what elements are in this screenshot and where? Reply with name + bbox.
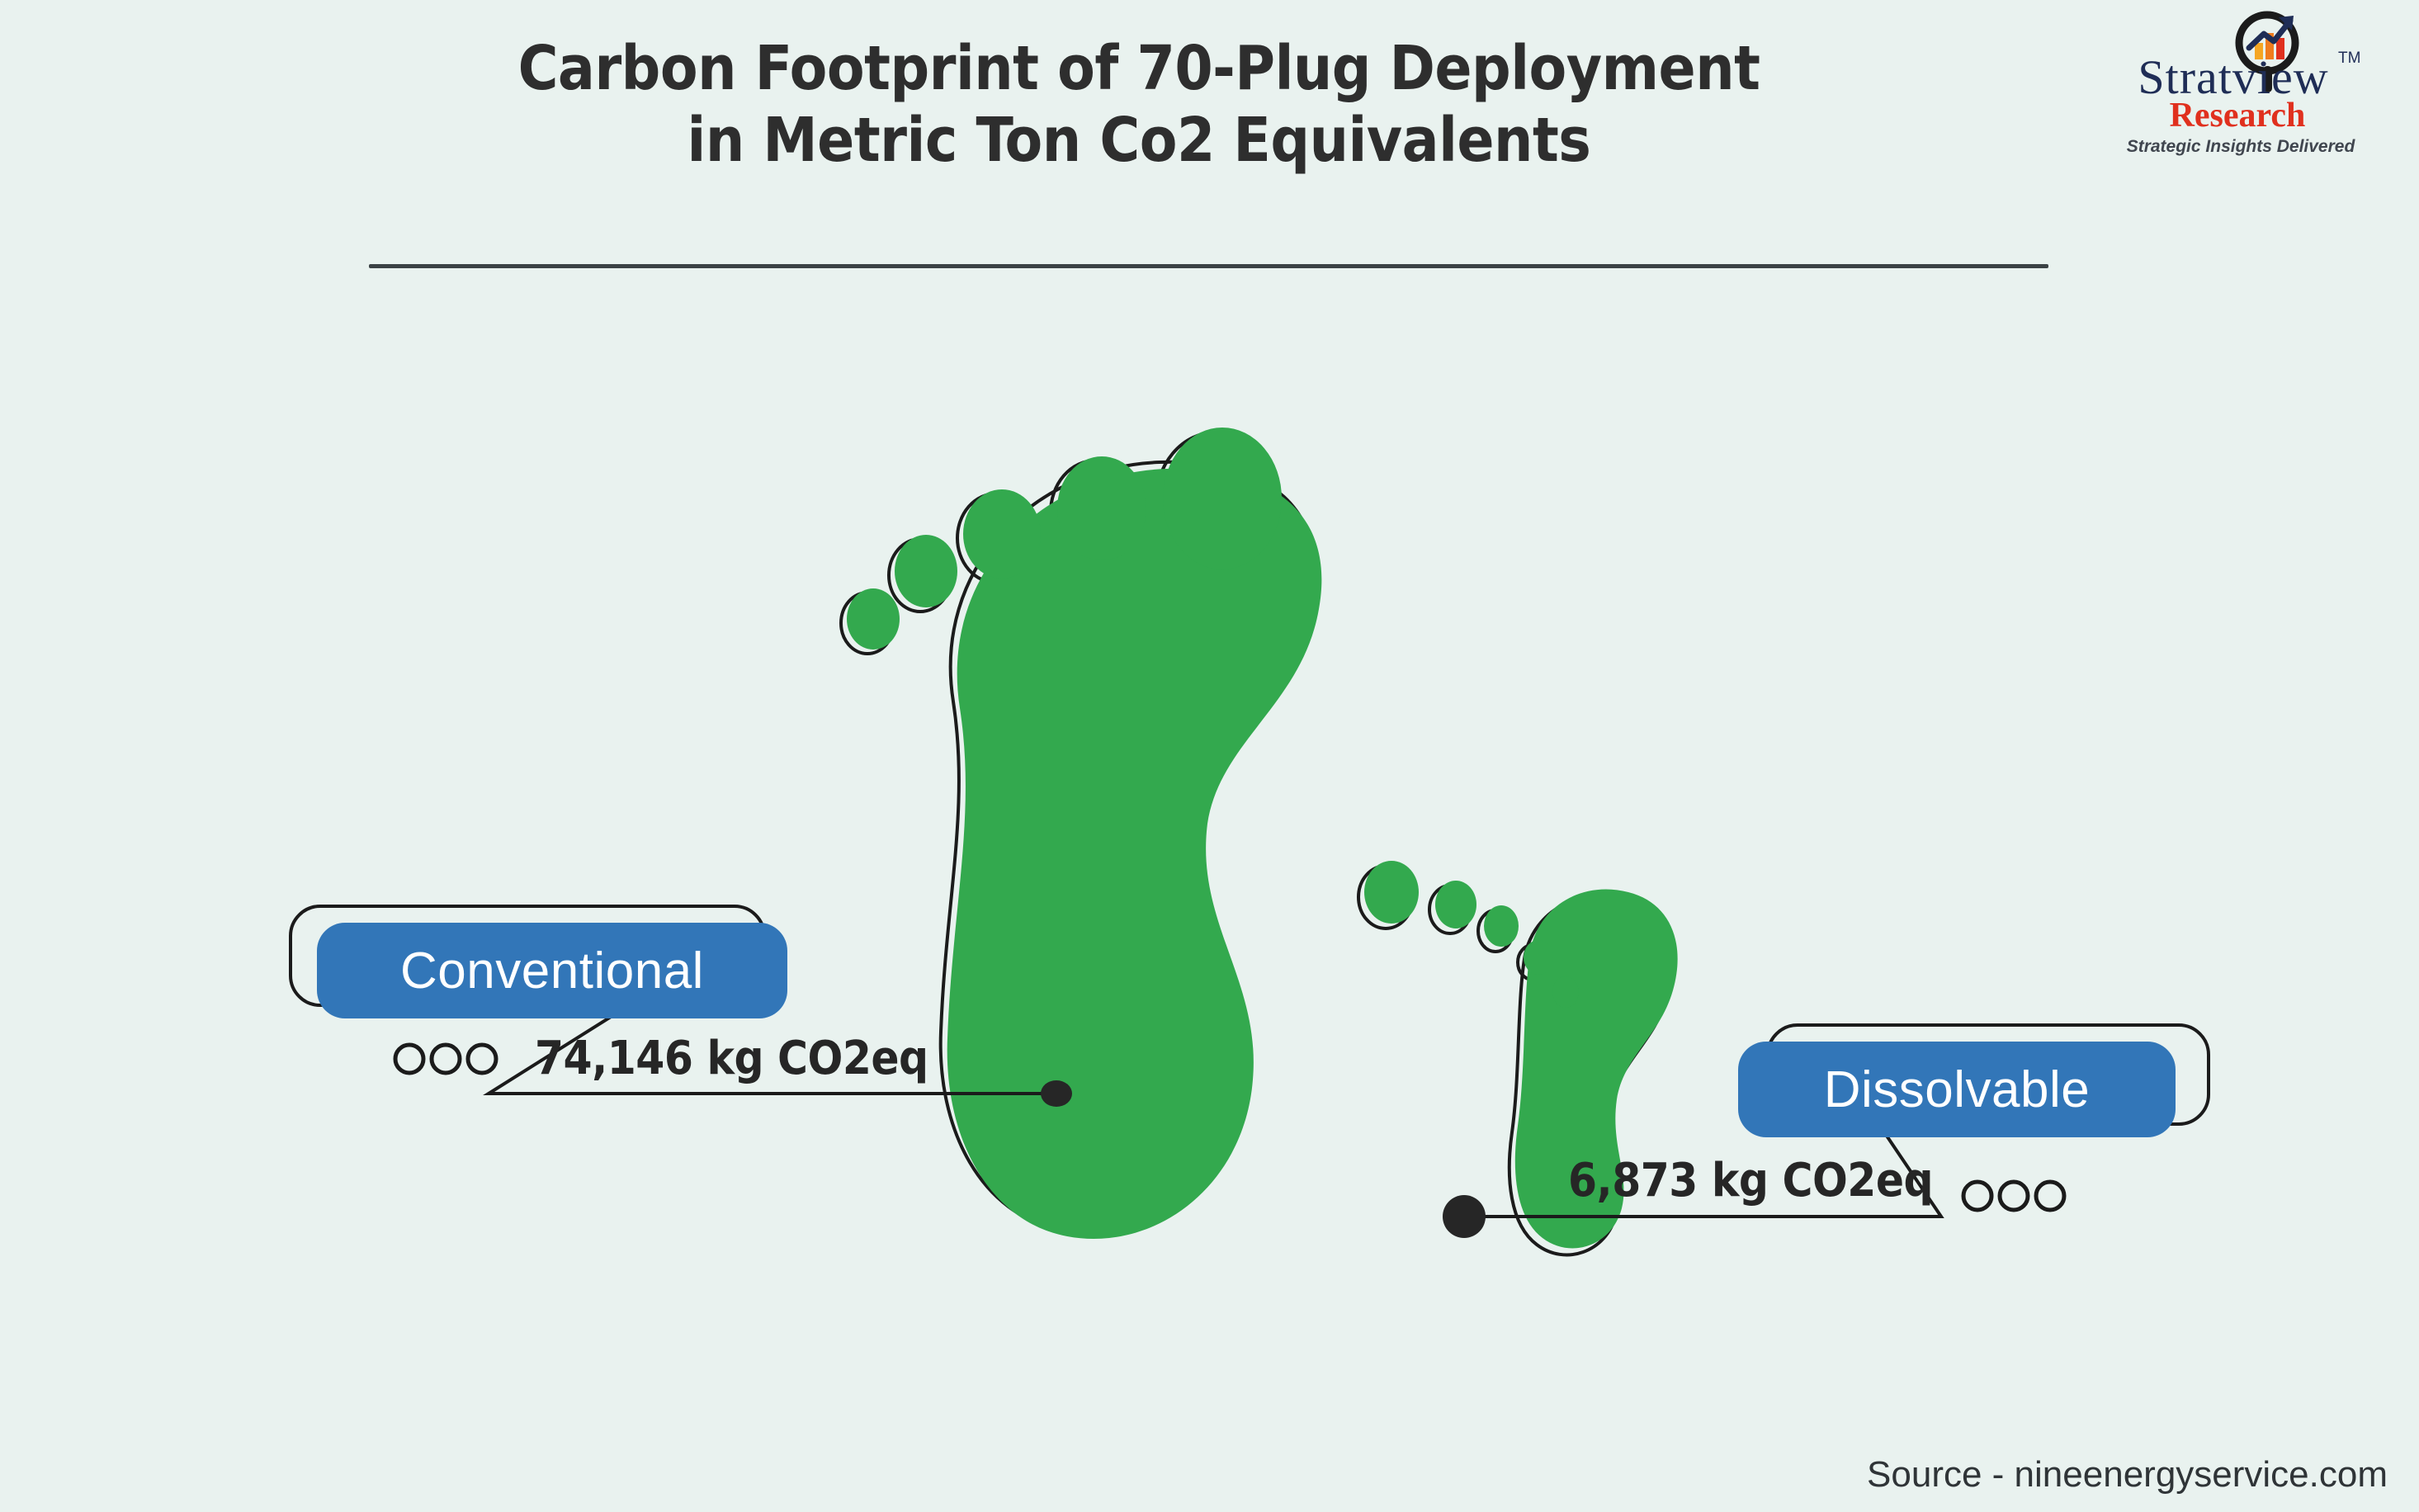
large-footprint-conventional [841, 428, 1321, 1239]
source-credit: Source - nineenergyservice.com [1867, 1454, 2388, 1495]
conventional-label: Conventional [400, 942, 704, 1000]
decorative-dots-right [1963, 1182, 2064, 1210]
conventional-pill[interactable]: Conventional [317, 923, 787, 1018]
leader-endpoint-dot [1443, 1195, 1486, 1238]
conventional-value: 74,146 kg CO2eq [535, 1032, 928, 1085]
infographic-canvas: Carbon Footprint of 70-Plug Deployment i… [0, 0, 2419, 1512]
decorative-dots-left [395, 1045, 496, 1073]
footprint-illustration [0, 0, 2419, 1512]
dissolvable-value: 6,873 kg CO2eq [1568, 1154, 1933, 1207]
leader-endpoint-dot [1041, 1080, 1072, 1107]
dissolvable-pill[interactable]: Dissolvable [1738, 1042, 2176, 1137]
dissolvable-label: Dissolvable [1824, 1061, 2091, 1119]
